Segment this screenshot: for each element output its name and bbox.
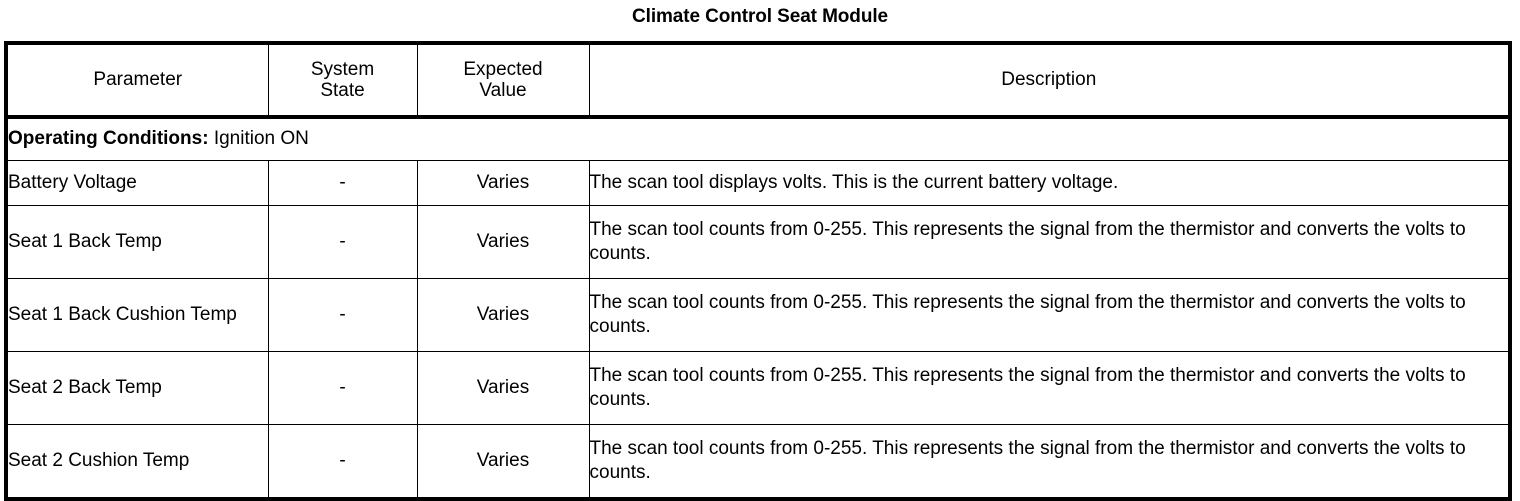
cell-expected-value: Varies [417, 352, 589, 425]
cell-description: The scan tool counts from 0-255. This re… [589, 206, 1510, 279]
operating-conditions-label: Operating Conditions: [8, 128, 209, 149]
cell-expected-value: Varies [417, 206, 589, 279]
column-header-expected-value-line2: Value [479, 80, 526, 101]
column-header-parameter: Parameter [6, 43, 268, 117]
column-header-system-state-line1: System [311, 59, 374, 80]
table-body: Operating Conditions: Ignition ON Batter… [6, 117, 1510, 499]
cell-description: The scan tool displays volts. This is th… [589, 161, 1510, 206]
cell-parameter: Seat 2 Cushion Temp [6, 425, 268, 500]
parameter-table-container: Parameter System State Expected Value De… [4, 41, 1512, 501]
table-row: Battery Voltage - Varies The scan tool d… [6, 161, 1510, 206]
cell-expected-value: Varies [417, 279, 589, 352]
cell-system-state: - [268, 352, 417, 425]
operating-conditions-value: Ignition ON [214, 128, 309, 149]
column-header-description: Description [589, 43, 1510, 117]
cell-expected-value: Varies [417, 161, 589, 206]
cell-description: The scan tool counts from 0-255. This re… [589, 279, 1510, 352]
table-row: Seat 1 Back Temp - Varies The scan tool … [6, 206, 1510, 279]
table-row: Seat 2 Cushion Temp - Varies The scan to… [6, 425, 1510, 500]
operating-conditions-row: Operating Conditions: Ignition ON [6, 117, 1510, 161]
table-row: Seat 1 Back Cushion Temp - Varies The sc… [6, 279, 1510, 352]
table-header-row: Parameter System State Expected Value De… [6, 43, 1510, 117]
operating-conditions-cell: Operating Conditions: Ignition ON [6, 117, 1510, 161]
column-header-system-state: System State [268, 43, 417, 117]
table-row: Seat 2 Back Temp - Varies The scan tool … [6, 352, 1510, 425]
cell-parameter: Seat 2 Back Temp [6, 352, 268, 425]
page-root: Climate Control Seat Module Parameter Sy… [0, 0, 1520, 498]
cell-system-state: - [268, 279, 417, 352]
cell-description: The scan tool counts from 0-255. This re… [589, 352, 1510, 425]
parameter-table: Parameter System State Expected Value De… [4, 41, 1512, 501]
cell-description: The scan tool counts from 0-255. This re… [589, 425, 1510, 500]
page-title: Climate Control Seat Module [0, 0, 1520, 26]
cell-system-state: - [268, 425, 417, 500]
cell-parameter: Battery Voltage [6, 161, 268, 206]
cell-system-state: - [268, 206, 417, 279]
column-header-expected-value: Expected Value [417, 43, 589, 117]
cell-parameter: Seat 1 Back Cushion Temp [6, 279, 268, 352]
cell-system-state: - [268, 161, 417, 206]
table-header: Parameter System State Expected Value De… [6, 43, 1510, 117]
column-header-expected-value-line1: Expected [463, 59, 542, 80]
column-header-system-state-line2: State [320, 80, 364, 101]
cell-parameter: Seat 1 Back Temp [6, 206, 268, 279]
cell-expected-value: Varies [417, 425, 589, 500]
